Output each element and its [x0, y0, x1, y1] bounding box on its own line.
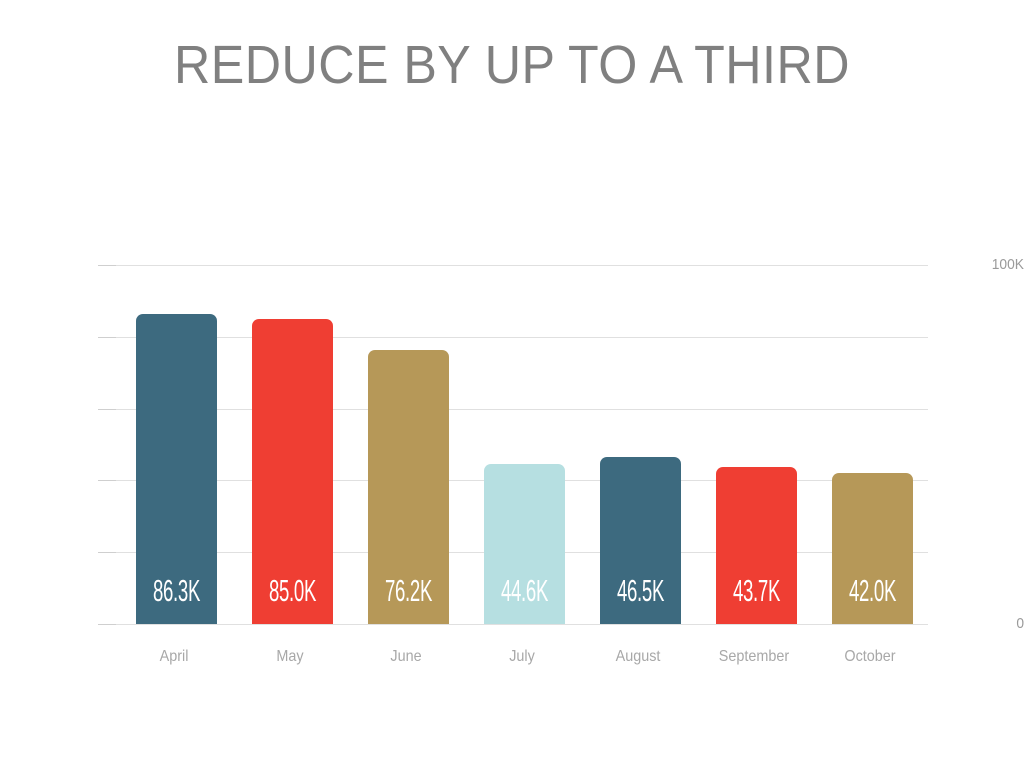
bar-october[interactable]: 42.0K	[832, 473, 913, 624]
bar-may[interactable]: 85.0K	[252, 319, 333, 624]
x-axis-label-september: September	[702, 648, 806, 666]
bar-july[interactable]: 44.6K	[484, 464, 565, 624]
gridline	[116, 265, 928, 266]
y-axis-tick	[98, 552, 116, 553]
bar-value-label: 85.0K	[268, 573, 317, 609]
bar-september[interactable]: 43.7K	[716, 467, 797, 624]
y-axis-label-zero: 0	[976, 615, 1024, 632]
x-axis-label-august: August	[586, 648, 690, 666]
gridline	[116, 624, 928, 625]
x-axis-label-may: May	[238, 648, 342, 666]
x-axis-label-june: June	[354, 648, 458, 666]
x-axis-label-october: October	[818, 648, 922, 666]
y-axis-tick	[98, 265, 116, 266]
chart-slide: REDUCE BY UP TO A THIRD 100K 0 86.3K85.0…	[0, 0, 1024, 768]
bar-value-label: 86.3K	[152, 573, 201, 609]
y-axis-label-max: 100K	[976, 256, 1024, 273]
y-axis-tick	[98, 480, 116, 481]
x-axis-label-april: April	[122, 648, 226, 666]
bar-june[interactable]: 76.2K	[368, 350, 449, 624]
y-axis-tick	[98, 409, 116, 410]
y-axis-tick	[98, 624, 116, 625]
bar-value-label: 44.6K	[500, 573, 549, 609]
gridline	[116, 337, 928, 338]
bar-april[interactable]: 86.3K	[136, 314, 217, 624]
y-axis-tick	[98, 337, 116, 338]
bar-value-label: 46.5K	[616, 573, 665, 609]
bar-value-label: 76.2K	[384, 573, 433, 609]
gridline	[116, 409, 928, 410]
bar-value-label: 43.7K	[732, 573, 781, 609]
x-axis-label-july: July	[470, 648, 574, 666]
bar-august[interactable]: 46.5K	[600, 457, 681, 624]
plot-area: 86.3K85.0K76.2K44.6K46.5K43.7K42.0K	[116, 265, 928, 624]
bar-value-label: 42.0K	[848, 573, 897, 609]
chart-title: REDUCE BY UP TO A THIRD	[36, 34, 988, 96]
